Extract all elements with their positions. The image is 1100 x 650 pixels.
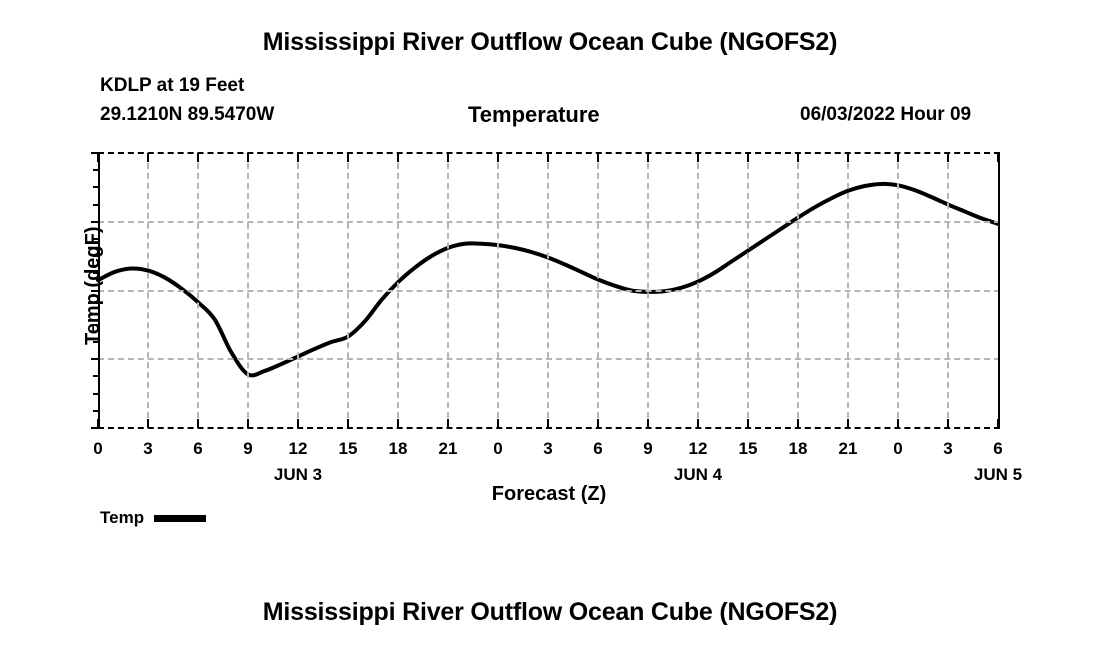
x-tick-label: 6	[578, 440, 618, 457]
x-axis-tick-top	[397, 153, 399, 162]
x-axis-tick-top	[697, 153, 699, 162]
x-tick-label: 15	[328, 440, 368, 457]
legend-swatch-temp	[154, 515, 206, 522]
page-title-bottom: Mississippi River Outflow Ocean Cube (NG…	[0, 598, 1100, 627]
x-tick-label: 15	[728, 440, 768, 457]
x-axis-tick-bottom	[897, 419, 899, 428]
x-tick-label: 3	[528, 440, 568, 457]
gridline-vertical	[297, 153, 299, 428]
x-axis-tick-top	[897, 153, 899, 162]
gridline-vertical	[347, 153, 349, 428]
x-tick-label: 6	[178, 440, 218, 457]
x-tick-label: 12	[278, 440, 318, 457]
gridline-vertical	[647, 153, 649, 428]
x-axis-tick-bottom	[447, 419, 449, 428]
x-axis-tick-bottom	[97, 419, 99, 428]
gridline-vertical	[447, 153, 449, 428]
x-axis-tick-bottom	[547, 419, 549, 428]
gridline-vertical	[597, 153, 599, 428]
x-axis-tick-bottom	[647, 419, 649, 428]
legend-label-temp: Temp	[100, 508, 144, 528]
x-axis-tick-bottom	[997, 419, 999, 428]
y-axis-title: Temp (degF)	[82, 226, 105, 345]
x-axis-day-label: JUN 5	[943, 466, 1053, 483]
variable-label: Temperature	[468, 102, 600, 128]
x-axis-day-label: JUN 4	[643, 466, 753, 483]
x-axis-title: Forecast (Z)	[98, 483, 1000, 506]
x-axis-tick-top	[347, 153, 349, 162]
page-title-top: Mississippi River Outflow Ocean Cube (NG…	[0, 28, 1100, 57]
gridline-horizontal	[98, 358, 1000, 360]
x-axis-tick-bottom	[297, 419, 299, 428]
x-axis-tick-top	[297, 153, 299, 162]
x-axis-tick-top	[997, 153, 999, 162]
chart-page: Mississippi River Outflow Ocean Cube (NG…	[0, 0, 1100, 650]
x-axis-tick-top	[447, 153, 449, 162]
x-axis-tick-top	[847, 153, 849, 162]
x-axis-tick-top	[747, 153, 749, 162]
y-axis-tick	[91, 221, 98, 223]
x-axis-tick-bottom	[947, 419, 949, 428]
x-tick-label: 0	[78, 440, 118, 457]
y-axis-tick	[91, 358, 98, 360]
x-axis-tick-bottom	[497, 419, 499, 428]
gridline-vertical	[197, 153, 199, 428]
x-tick-label: 18	[778, 440, 818, 457]
gridline-vertical	[547, 153, 549, 428]
x-axis-tick-top	[597, 153, 599, 162]
x-tick-label: 0	[478, 440, 518, 457]
x-tick-label: 12	[678, 440, 718, 457]
gridline-vertical	[497, 153, 499, 428]
x-axis-tick-bottom	[347, 419, 349, 428]
legend: Temp	[100, 508, 206, 528]
x-tick-label: 18	[378, 440, 418, 457]
x-axis-tick-bottom	[147, 419, 149, 428]
x-axis-tick-top	[147, 153, 149, 162]
gridline-horizontal	[98, 290, 1000, 292]
x-tick-label: 21	[828, 440, 868, 457]
x-axis-tick-bottom	[397, 419, 399, 428]
x-axis-tick-bottom	[597, 419, 599, 428]
x-axis-tick-bottom	[747, 419, 749, 428]
x-axis-tick-bottom	[697, 419, 699, 428]
x-axis-tick-bottom	[797, 419, 799, 428]
x-tick-label: 9	[228, 440, 268, 457]
axis-boundary-line	[98, 152, 1000, 154]
x-tick-label: 0	[878, 440, 918, 457]
plot-area: 82.0083.0084.0085.0086.00 03691215182103…	[98, 153, 1000, 428]
x-axis-tick-top	[647, 153, 649, 162]
gridline-vertical	[747, 153, 749, 428]
x-axis-tick-bottom	[197, 419, 199, 428]
x-axis-tick-bottom	[247, 419, 249, 428]
y-axis-minor-tick	[93, 375, 98, 377]
coordinates-label: 29.1210N 89.5470W	[100, 104, 274, 126]
x-axis-day-label: JUN 3	[243, 466, 353, 483]
x-axis-tick-top	[547, 153, 549, 162]
x-axis-tick-top	[947, 153, 949, 162]
x-tick-label: 6	[978, 440, 1018, 457]
x-tick-label: 3	[928, 440, 968, 457]
y-axis-minor-tick	[93, 186, 98, 188]
gridline-horizontal	[98, 221, 1000, 223]
gridline-vertical	[397, 153, 399, 428]
x-axis-tick-top	[497, 153, 499, 162]
gridline-vertical	[897, 153, 899, 428]
x-tick-label: 21	[428, 440, 468, 457]
y-axis-minor-tick	[93, 410, 98, 412]
x-axis-tick-bottom	[847, 419, 849, 428]
datetime-label: 06/03/2022 Hour 09	[800, 104, 971, 126]
y-axis-minor-tick	[93, 393, 98, 395]
x-tick-label: 3	[128, 440, 168, 457]
gridline-vertical	[847, 153, 849, 428]
station-label: KDLP at 19 Feet	[100, 75, 244, 97]
y-axis-minor-tick	[93, 204, 98, 206]
x-axis-tick-top	[97, 153, 99, 162]
gridline-vertical	[697, 153, 699, 428]
gridline-vertical	[947, 153, 949, 428]
gridline-vertical	[247, 153, 249, 428]
x-axis-tick-top	[797, 153, 799, 162]
y-axis-minor-tick	[93, 169, 98, 171]
axis-boundary-line	[98, 427, 1000, 429]
x-axis-tick-top	[197, 153, 199, 162]
right-axis-line	[998, 153, 1000, 428]
gridline-vertical	[147, 153, 149, 428]
x-axis-tick-top	[247, 153, 249, 162]
gridline-vertical	[797, 153, 799, 428]
x-tick-label: 9	[628, 440, 668, 457]
